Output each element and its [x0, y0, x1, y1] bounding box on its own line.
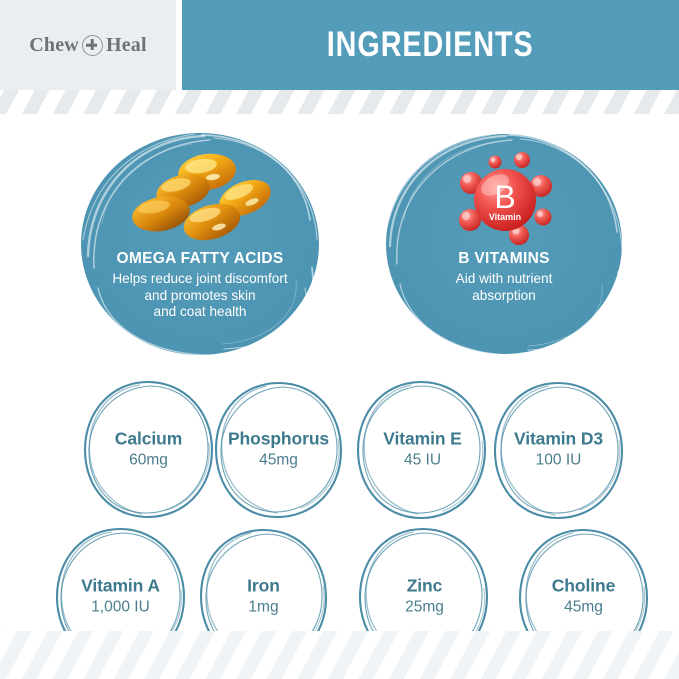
ingredient-circle-vitamin-d3: Vitamin D3 100 IU	[489, 377, 628, 522]
brand-logo: Chew Heal	[29, 34, 146, 57]
ingredient-amount: 60mg	[79, 451, 218, 469]
feature-desc-line: Helps reduce joint discomfort	[74, 271, 326, 288]
decorative-stripe-band-top	[0, 90, 679, 114]
ingredient-name: Vitamin D3	[489, 428, 628, 449]
ingredient-name: Choline	[514, 575, 653, 596]
feature-desc-line: and coat health	[74, 304, 326, 321]
fish-oil-softgel-capsules-icon	[129, 150, 274, 248]
ingredient-name: Zinc	[355, 575, 494, 596]
svg-text:B: B	[494, 179, 515, 215]
ingredient-circle-calcium: Calcium 60mg	[79, 377, 218, 522]
ingredient-name: Phosphorus	[209, 428, 348, 449]
vitamin-b-molecule-icon: B Vitamin	[448, 146, 563, 254]
ingredient-amount: 45 IU	[353, 451, 492, 469]
feature-desc-line: Aid with nutrient	[378, 271, 630, 288]
svg-text:Vitamin: Vitamin	[489, 212, 521, 222]
feature-desc-line: and promotes skin	[74, 288, 326, 305]
ingredient-amount: 25mg	[355, 598, 494, 616]
ingredient-circle-vitamin-e: Vitamin E 45 IU	[353, 377, 492, 522]
feature-title: OMEGA FATTY ACIDS	[74, 250, 326, 268]
feature-desc-line: absorption	[378, 288, 630, 305]
ingredient-amount: 45mg	[209, 451, 348, 469]
page-title: INGREDIENTS	[327, 25, 534, 65]
feature-card-omega-fatty-acids: OMEGA FATTY ACIDS Helps reduce joint dis…	[74, 128, 326, 360]
ingredient-name: Calcium	[79, 428, 218, 449]
brand-logo-panel: Chew Heal	[0, 0, 176, 90]
ingredient-name: Vitamin A	[51, 575, 190, 596]
logo-right-word: Heal	[106, 34, 147, 57]
ingredient-amount: 45mg	[514, 598, 653, 616]
logo-left-word: Chew	[29, 34, 79, 57]
decorative-stripe-band-bottom	[0, 631, 679, 679]
ingredient-name: Iron	[194, 575, 333, 596]
ingredient-name: Vitamin E	[353, 428, 492, 449]
feature-title: B VITAMINS	[378, 250, 630, 268]
header-title-panel: INGREDIENTS	[182, 0, 679, 90]
ingredient-amount: 1,000 IU	[51, 598, 190, 616]
feature-text-omega: OMEGA FATTY ACIDS Helps reduce joint dis…	[74, 250, 326, 321]
ingredient-circle-phosphorus: Phosphorus 45mg	[209, 377, 348, 522]
feature-text-b-vitamins: B VITAMINS Aid with nutrient absorption	[378, 250, 630, 304]
page-header: Chew Heal INGREDIENTS	[0, 0, 679, 90]
feature-card-b-vitamins: B Vitamin B VITAMINS Aid with nutrient a…	[378, 128, 630, 360]
ingredient-amount: 100 IU	[489, 451, 628, 469]
ingredient-amount: 1mg	[194, 598, 333, 616]
plus-in-circle-icon	[82, 35, 103, 56]
